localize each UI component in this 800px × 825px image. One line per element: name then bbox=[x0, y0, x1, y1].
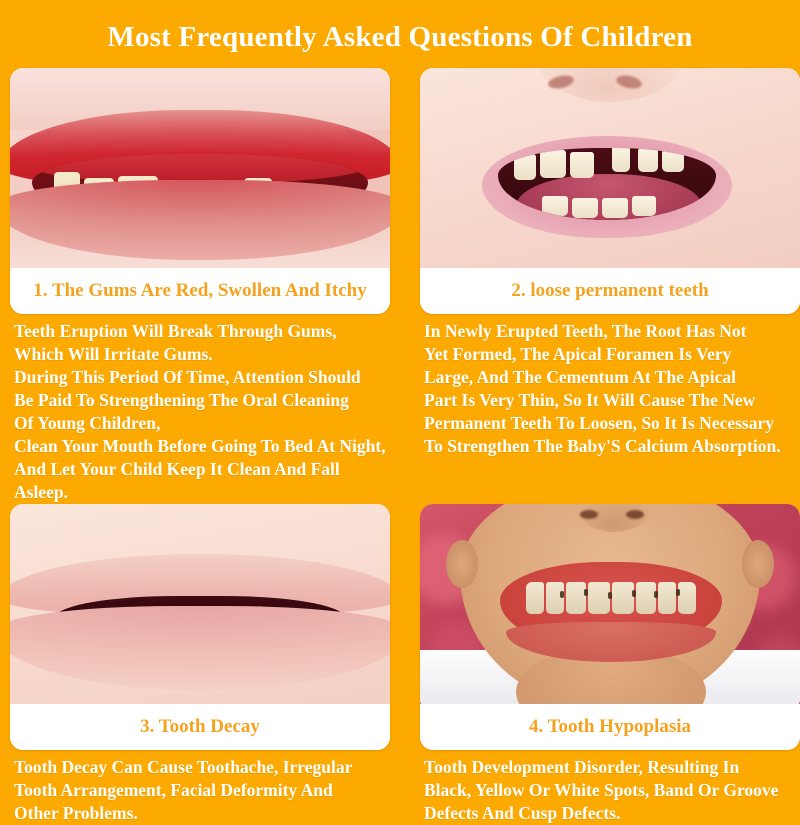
enamel-defect-spot bbox=[676, 589, 680, 596]
nostril bbox=[580, 510, 598, 519]
tooth bbox=[526, 582, 544, 614]
faq-grid: 1. The Gums Are Red, Swollen And Itchy T… bbox=[0, 68, 800, 825]
tooth bbox=[602, 198, 628, 218]
enamel-defect-spot bbox=[584, 589, 588, 596]
tooth bbox=[678, 582, 696, 614]
tooth bbox=[572, 198, 598, 218]
faq-item-2: 2. loose permanent teeth In Newly Erupte… bbox=[420, 68, 800, 504]
ear bbox=[446, 540, 478, 588]
tooth bbox=[658, 582, 676, 614]
tooth bbox=[540, 150, 566, 178]
faq-body-1: Teeth Eruption Will Break Through Gums, … bbox=[10, 314, 390, 504]
photo-child-face-tooth-hypoplasia bbox=[420, 504, 800, 704]
tooth bbox=[612, 148, 630, 172]
faq-item-3: 3. Tooth Decay Tooth Decay Can Cause Too… bbox=[10, 504, 390, 825]
faq-body-2: In Newly Erupted Teeth, The Root Has Not… bbox=[420, 314, 800, 458]
photo-child-mouth-tooth-decay bbox=[10, 504, 390, 704]
faq-caption-3: 3. Tooth Decay bbox=[10, 704, 390, 750]
enamel-defect-spot bbox=[654, 591, 658, 598]
page-title: Most Frequently Asked Questions Of Child… bbox=[0, 0, 800, 60]
faq-caption-1: 1. The Gums Are Red, Swollen And Itchy bbox=[10, 268, 390, 314]
faq-item-4: 4. Tooth Hypoplasia Tooth Development Di… bbox=[420, 504, 800, 825]
tooth bbox=[566, 582, 586, 614]
faq-card-3: 3. Tooth Decay bbox=[10, 504, 390, 750]
infographic-poster: Most Frequently Asked Questions Of Child… bbox=[0, 0, 800, 800]
enamel-defect-spot bbox=[632, 590, 636, 597]
lower-lip bbox=[10, 606, 390, 690]
faq-caption-4: 4. Tooth Hypoplasia bbox=[420, 704, 800, 750]
nostril bbox=[626, 510, 644, 519]
teeth-row bbox=[526, 582, 696, 616]
tooth bbox=[570, 152, 594, 178]
tooth bbox=[542, 196, 568, 216]
faq-caption-2: 2. loose permanent teeth bbox=[420, 268, 800, 314]
faq-card-2: 2. loose permanent teeth bbox=[420, 68, 800, 314]
faq-body-3: Tooth Decay Can Cause Toothache, Irregul… bbox=[10, 750, 390, 825]
faq-card-4: 4. Tooth Hypoplasia bbox=[420, 504, 800, 750]
mouth-opening bbox=[498, 148, 716, 220]
tooth bbox=[514, 154, 536, 180]
tooth bbox=[588, 582, 610, 614]
photo-child-mouth-red-swollen-gums bbox=[10, 68, 390, 268]
tooth bbox=[662, 150, 684, 172]
tooth bbox=[636, 582, 656, 614]
enamel-defect-spot bbox=[560, 591, 564, 598]
tooth bbox=[638, 148, 658, 172]
tooth bbox=[612, 582, 634, 614]
faq-item-1: 1. The Gums Are Red, Swollen And Itchy T… bbox=[10, 68, 390, 504]
faq-body-4: Tooth Development Disorder, Resulting In… bbox=[420, 750, 800, 825]
photo-child-mouth-loose-permanent-teeth bbox=[420, 68, 800, 268]
ear bbox=[742, 540, 774, 588]
enamel-defect-spot bbox=[608, 592, 612, 599]
faq-card-1: 1. The Gums Are Red, Swollen And Itchy bbox=[10, 68, 390, 314]
tooth bbox=[546, 582, 564, 614]
tooth bbox=[632, 196, 656, 216]
